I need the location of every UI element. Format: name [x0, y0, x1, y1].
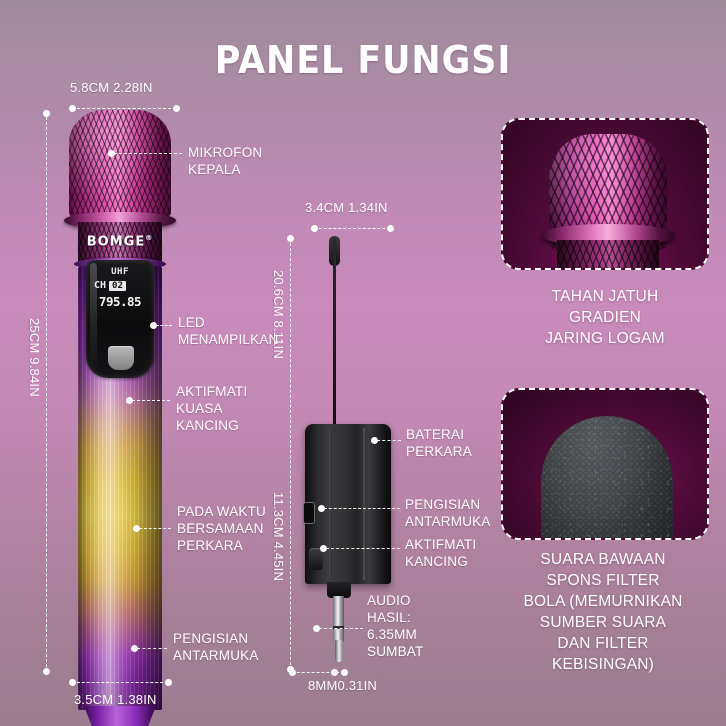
- dimension-line-mic-height: [46, 112, 47, 672]
- antenna: [333, 238, 336, 428]
- callout-audio-output: AUDIO HASIL: 6.35MM SUMBAT: [367, 592, 423, 660]
- callout-battery-case: BATERAI PERKARA: [406, 426, 472, 460]
- infographic-canvas: PANEL FUNGSI BOMGE® UHF CH 02 795.85 5.8…: [0, 0, 726, 726]
- feature-caption-foam-filter: SUARA BAWAAN SPONS FILTER BOLA (MEMURNIK…: [488, 549, 718, 675]
- dimension-body-height: 11.3CM 4.45IN: [271, 492, 286, 581]
- body-seam: [363, 428, 365, 580]
- dimension-line-antenna-height: [290, 238, 291, 428]
- transmitter-body: [305, 424, 391, 584]
- mesh-lower-shape: [557, 240, 659, 270]
- dimension-line-mic-head-width: [72, 108, 176, 109]
- callout-tx-charging-port: PENGISIAN ANTARMUKA: [405, 496, 491, 530]
- callout-line-mic-head: [114, 153, 182, 154]
- led-mode-text: UHF: [86, 267, 154, 277]
- led-channel-row: CH 02: [94, 280, 148, 291]
- audio-jack-tip: [335, 640, 343, 662]
- dimension-cap-right: [173, 105, 180, 112]
- led-display-panel: UHF CH 02 795.85: [86, 260, 154, 378]
- dimension-cap-top: [43, 110, 50, 117]
- dimension-mic-head-width: 5.8CM 2.28IN: [70, 80, 153, 95]
- microphone-grille: [69, 110, 171, 218]
- metal-mesh-photo: [503, 120, 707, 268]
- dimension-jack-width: 8MM0.31IN: [308, 678, 377, 693]
- dimension-cap-base-right: [165, 679, 172, 686]
- dimension-cap-left: [69, 105, 76, 112]
- dimension-cap-bottom: [43, 668, 50, 675]
- dimension-cap-jack-right: [341, 669, 348, 676]
- feature-card-metal-mesh: [501, 118, 709, 270]
- handheld-microphone-illustration: BOMGE® UHF CH 02 795.85: [60, 110, 180, 670]
- dimension-cap-antenna-top: [287, 235, 294, 242]
- callout-led-display: LED MENAMPILKAN: [178, 314, 278, 348]
- foam-filter-photo: [503, 390, 707, 538]
- power-button[interactable]: [108, 346, 134, 370]
- callout-line-tx-power-switch: [326, 548, 400, 549]
- callout-mic-charging-port: PENGISIAN ANTARMUKA: [173, 630, 259, 664]
- page-title: PANEL FUNGSI: [29, 38, 697, 82]
- led-frequency-value: 795.85: [86, 294, 154, 309]
- callout-tx-power-switch: AKTIFMATI KANCING: [405, 536, 476, 570]
- dimension-mic-total-height: 25CM 9.84IN: [27, 318, 42, 397]
- feature-caption-metal-mesh: TAHAN JATUH GRADIEN JARING LOGAM: [490, 286, 720, 349]
- feature-card-foam-filter: [501, 388, 709, 540]
- callout-line-mic-charging-port: [137, 648, 167, 649]
- brand-name: BOMGE: [87, 234, 145, 249]
- dimension-cap-base-left: [69, 679, 76, 686]
- dimension-cap-antenna-right: [387, 225, 394, 232]
- dimension-cap-jack-left: [289, 669, 296, 676]
- callout-line-power-button: [132, 400, 170, 401]
- dimension-mic-base-width: 3.5CM 1.38IN: [74, 692, 157, 707]
- dimension-cap-jack-mid: [331, 669, 338, 676]
- usb-charging-port[interactable]: [303, 502, 315, 524]
- callout-power-button: AKTIFMATI KUASA KANCING: [176, 383, 247, 434]
- dimension-antenna-width: 3.4CM 1.34IN: [305, 200, 388, 215]
- dimension-antenna-height: 20.6CM 8.11IN: [271, 270, 286, 359]
- dimension-line-mic-base-width: [72, 682, 168, 683]
- led-channel-label: CH: [94, 280, 106, 291]
- audio-jack-barrel: [333, 596, 344, 642]
- callout-grip: PADA WAKTU BERSAMAAN PERKARA: [177, 503, 266, 554]
- dimension-line-body-height: [290, 430, 291, 670]
- callout-line-tx-charging-port: [324, 508, 400, 509]
- dimension-line-antenna-width: [314, 228, 390, 229]
- callout-line-grip: [139, 528, 171, 529]
- callout-line-audio-output: [319, 628, 363, 629]
- microphone-taper: [84, 706, 156, 726]
- foam-windscreen-shape: [541, 416, 673, 540]
- callout-mic-head: MIKROFON KEPALA: [188, 144, 262, 178]
- led-channel-value: 02: [109, 281, 126, 291]
- body-seam-secondary: [329, 428, 330, 580]
- dimension-cap-antenna-left: [311, 225, 318, 232]
- brand-logo: BOMGE®: [60, 234, 180, 249]
- callout-line-led-display: [156, 325, 172, 326]
- callout-line-battery-case: [377, 440, 401, 441]
